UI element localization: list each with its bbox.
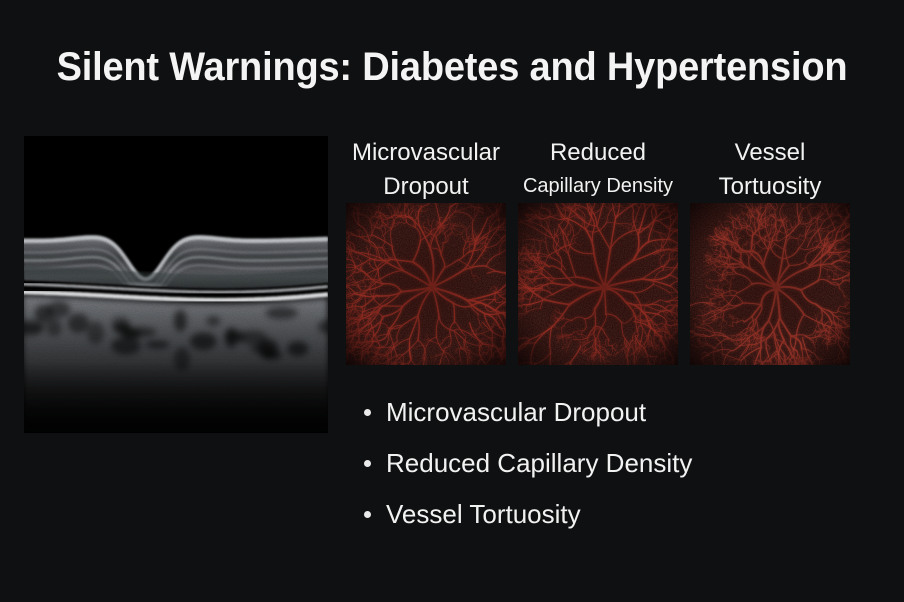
retinal-angiography-vessel-tortuosity — [690, 203, 850, 365]
angiography-column-group: MicrovascularDropoutReducedCapillary Den… — [346, 136, 850, 372]
label-line-1: Reduced — [518, 136, 678, 170]
list-item: Vessel Tortuosity — [360, 498, 880, 530]
list-item-label: Vessel Tortuosity — [386, 499, 581, 529]
list-item: Reduced Capillary Density — [360, 447, 880, 479]
bullet-dot-icon — [364, 409, 371, 416]
list-item-label: Reduced Capillary Density — [386, 448, 692, 478]
findings-bullet-list: Microvascular DropoutReduced Capillary D… — [360, 396, 880, 530]
label-line-1: Microvascular — [346, 136, 506, 170]
page-title: Silent Warnings: Diabetes and Hypertensi… — [23, 43, 882, 91]
bullet-dot-icon — [364, 511, 371, 518]
label-line-2: Dropout — [346, 170, 506, 203]
angiography-column-1: MicrovascularDropout — [346, 136, 506, 372]
angiography-column-3: VesselTortuosity — [690, 136, 850, 372]
retinal-angiography-reduced-capillary-density — [518, 203, 678, 365]
angiography-column-2: ReducedCapillary Density — [518, 136, 678, 372]
label-line-2: Capillary Density — [518, 170, 678, 203]
retinal-oct-bscan-image — [24, 136, 328, 433]
list-item-label: Microvascular Dropout — [386, 397, 646, 427]
bullet-dot-icon — [364, 460, 371, 467]
retinal-angiography-microvascular-dropout — [346, 203, 506, 365]
label-line-2: Tortuosity — [690, 170, 850, 203]
slide-canvas: Silent Warnings: Diabetes and Hypertensi… — [0, 0, 904, 602]
angiography-column-label-2: ReducedCapillary Density — [518, 136, 678, 203]
list-item: Microvascular Dropout — [360, 396, 880, 428]
angiography-column-label-3: VesselTortuosity — [690, 136, 850, 203]
angiography-column-label-1: MicrovascularDropout — [346, 136, 506, 203]
label-line-1: Vessel — [690, 136, 850, 170]
